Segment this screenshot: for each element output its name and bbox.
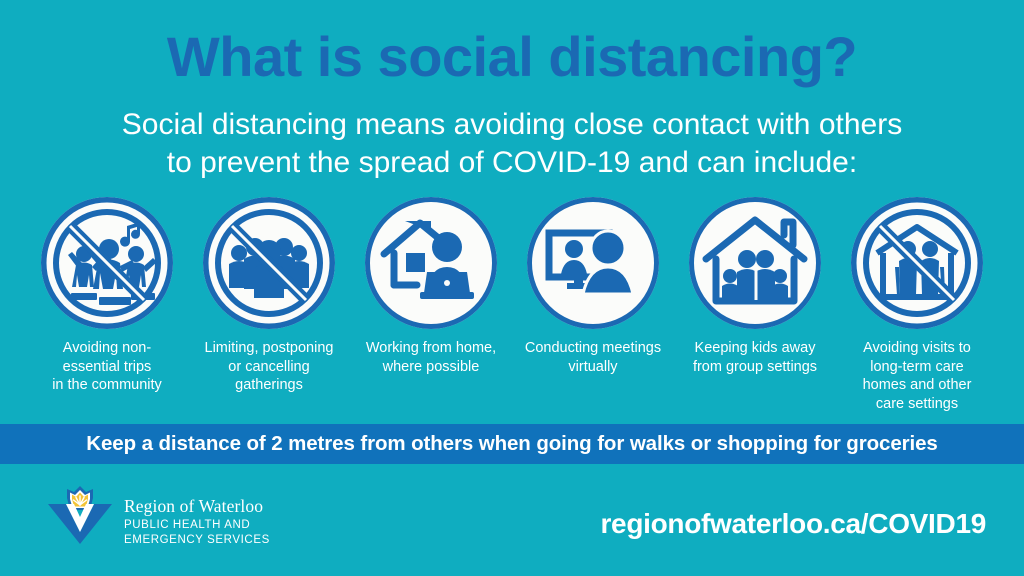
no-gathering-dancing-icon [41, 197, 173, 329]
logo-block: Region of Waterloo PUBLIC HEALTH AND EME… [46, 484, 270, 547]
distance-banner: Keep a distance of 2 metres from others … [0, 424, 1024, 464]
work-from-home-laptop-icon [365, 197, 497, 329]
measure-item-4: Conducting meetings virtually [512, 197, 674, 376]
distance-banner-text: Keep a distance of 2 metres from others … [86, 432, 937, 456]
measure-item-2: Limiting, postponing or cancelling gathe… [188, 197, 350, 395]
department-line-1: PUBLIC HEALTH AND [124, 518, 270, 532]
measure-caption-5: Keeping kids away from group settings [693, 339, 817, 376]
page-title: What is social distancing? [0, 28, 1024, 85]
measure-caption-4: Conducting meetings virtually [525, 339, 661, 376]
measure-caption-2: Limiting, postponing or cancelling gathe… [205, 339, 334, 395]
footer: Region of Waterloo PUBLIC HEALTH AND EME… [0, 464, 1024, 576]
website-url[interactable]: regionofwaterloo.ca/COVID19 [600, 508, 986, 540]
poster-canvas: What is social distancing? Social distan… [0, 0, 1024, 576]
region-of-waterloo-logo [46, 484, 114, 546]
measure-item-1: Avoiding non- essential trips in the com… [26, 197, 188, 395]
measure-caption-3: Working from home, where possible [366, 339, 496, 376]
subtitle-line-2: to prevent the spread of COVID-19 and ca… [0, 144, 1024, 182]
organization-name: Region of Waterloo [124, 497, 270, 516]
no-crowd-group-icon [203, 197, 335, 329]
measure-caption-1: Avoiding non- essential trips in the com… [52, 339, 162, 395]
measures-icon-row: Avoiding non- essential trips in the com… [26, 197, 998, 413]
family-in-house-icon [689, 197, 821, 329]
logo-wordmark: Region of Waterloo PUBLIC HEALTH AND EME… [124, 484, 270, 547]
measure-item-5: Keeping kids away from group settings [674, 197, 836, 376]
measure-item-3: Working from home, where possible [350, 197, 512, 376]
measure-caption-6: Avoiding visits to long-term care homes … [863, 339, 972, 413]
department-line-2: EMERGENCY SERVICES [124, 533, 270, 547]
measure-item-6: Avoiding visits to long-term care homes … [836, 197, 998, 413]
no-visits-seniors-care-home-icon [851, 197, 983, 329]
video-meeting-monitor-icon [527, 197, 659, 329]
subtitle: Social distancing means avoiding close c… [0, 106, 1024, 183]
subtitle-line-1: Social distancing means avoiding close c… [0, 106, 1024, 144]
